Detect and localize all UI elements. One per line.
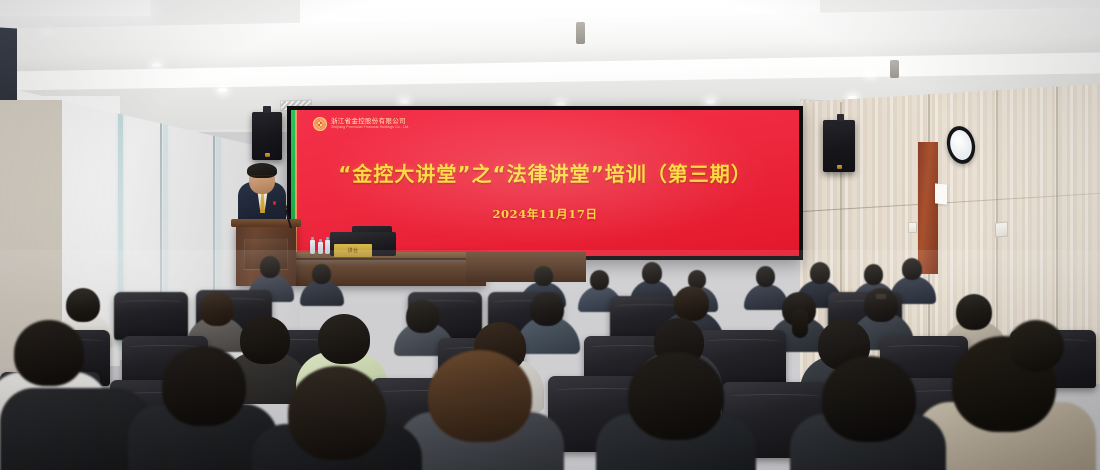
downlight-icon [400,100,409,104]
banner-title: “金控大讲堂”之“法律讲堂”培训（第三期） [291,158,799,187]
company-logo: 浙江省金控股份有限公司 Zhejiang Provincial Financia… [313,117,409,131]
hair-bun [1008,320,1064,372]
water-bottle [318,242,323,254]
water-bottle [310,240,315,254]
company-name-cn: 浙江省金控股份有限公司 [331,118,409,125]
light-switch-panel[interactable] [908,222,917,233]
downlight-icon [218,88,227,92]
conference-room-photo: 浙江省金控股份有限公司 Zhejiang Provincial Financia… [0,0,1100,470]
hair-clip [876,294,886,299]
stage-table-right [466,252,586,282]
downlight-icon [706,100,715,104]
presenter-lapel-pin [273,201,276,205]
speaker-bracket [263,106,271,113]
banner-date: 2024年11月17日 [291,206,799,222]
company-name-en: Zhejiang Provincial Financial Holdings C… [331,126,409,129]
wall-speaker-right [823,120,855,172]
ponytail [792,308,808,338]
downlight-icon [44,30,53,34]
wall-speaker-left [252,112,282,160]
door-notice-sheet [935,183,947,204]
presenter-glasses [251,175,273,180]
side-door[interactable] [918,142,938,274]
ceiling-light-panel [0,0,150,16]
light-switch-panel[interactable] [995,222,1008,238]
water-bottle [325,240,330,254]
nameplate: 讲台 [334,244,372,257]
clock-face [950,131,972,159]
speaker-bracket [837,114,844,121]
ceiling-projector-mount [576,22,585,44]
company-emblem-icon [313,117,327,131]
downlight-icon [866,72,875,76]
downlight-icon [152,63,161,67]
conference-chair [114,292,188,340]
ceiling-speaker [890,60,899,78]
